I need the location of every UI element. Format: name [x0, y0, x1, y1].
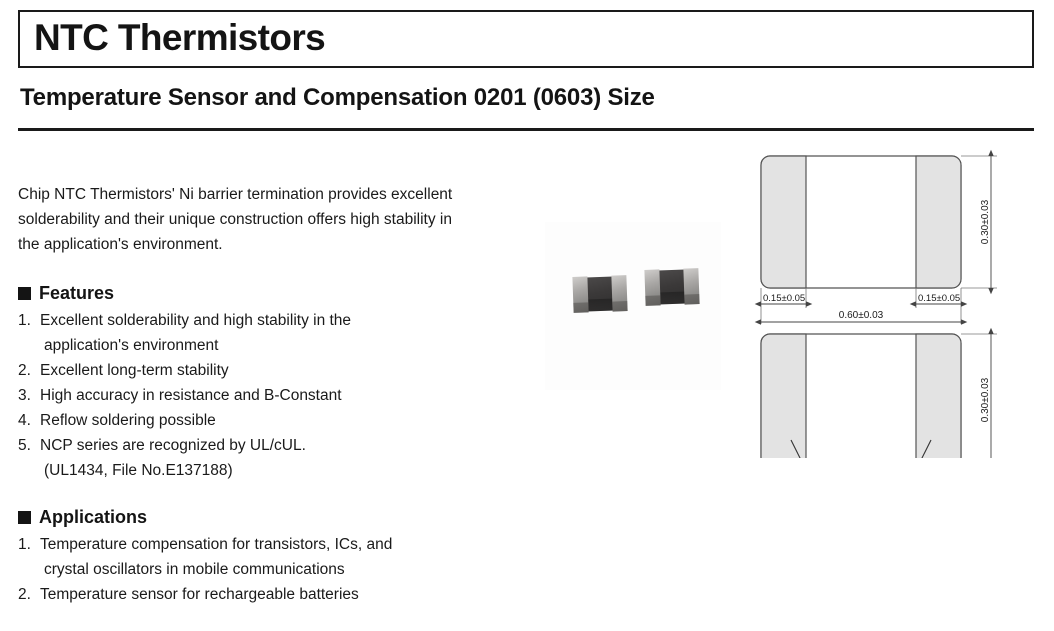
- features-section: Features 1. Excellent solderability and …: [18, 283, 468, 483]
- chip-termination-right: [683, 268, 699, 305]
- chip-termination-left: [572, 276, 588, 313]
- features-list: 1. Excellent solderability and high stab…: [18, 308, 468, 483]
- dim-length-label: 0.60±0.03: [839, 310, 884, 321]
- list-item-text: Temperature sensor for rechargeable batt…: [40, 582, 468, 607]
- list-item-text: Temperature compensation for transistors…: [40, 532, 468, 582]
- list-item-number: 2.: [18, 582, 40, 607]
- dim-width-top-label: 0.30±0.03: [980, 199, 991, 244]
- list-item-text: Reflow soldering possible: [40, 408, 468, 433]
- list-item-text: Excellent solderability and high stabili…: [40, 308, 468, 358]
- applications-heading-label: Applications: [39, 507, 147, 528]
- list-item-number: 5.: [18, 433, 40, 483]
- features-heading: Features: [18, 283, 468, 304]
- electrode-right-bottom: [916, 334, 961, 458]
- chip-component-image: [572, 276, 627, 312]
- dim-electrode-left-label: 0.15±0.05: [763, 293, 805, 304]
- square-bullet-icon: [18, 511, 31, 524]
- list-item: 2. Excellent long-term stability: [18, 358, 468, 383]
- list-item-continuation: crystal oscillators in mobile communicat…: [40, 557, 468, 582]
- list-item-number: 4.: [18, 408, 40, 433]
- page-subtitle: Temperature Sensor and Compensation 0201…: [20, 84, 655, 112]
- list-item-text: NCP series are recognized by UL/cUL.(UL1…: [40, 433, 468, 483]
- dimension-drawing: 0.15±0.05 0.15±0.05 0.60±0.03 0.30±0.03: [745, 148, 1045, 458]
- list-item-text: High accuracy in resistance and B-Consta…: [40, 383, 468, 408]
- list-item: 3. High accuracy in resistance and B-Con…: [18, 383, 468, 408]
- list-item-text: Excellent long-term stability: [40, 358, 468, 383]
- applications-section: Applications 1. Temperature compensation…: [18, 507, 468, 607]
- header-divider: [18, 128, 1034, 131]
- list-item-continuation: (UL1434, File No.E137188): [40, 458, 468, 483]
- chip-component-image: [644, 269, 699, 305]
- left-content-column: Chip NTC Thermistors' Ni barrier termina…: [18, 182, 468, 631]
- title-box: NTC Thermistors: [18, 10, 1034, 68]
- chip-termination-left: [644, 269, 660, 306]
- product-photo: [545, 222, 721, 390]
- list-item-continuation: application's environment: [40, 333, 468, 358]
- list-item: 4. Reflow soldering possible: [18, 408, 468, 433]
- bottom-view-drawing: 0.30±0.03: [761, 334, 997, 458]
- list-item: 5. NCP series are recognized by UL/cUL.(…: [18, 433, 468, 483]
- features-heading-label: Features: [39, 283, 114, 304]
- applications-heading: Applications: [18, 507, 468, 528]
- square-bullet-icon: [18, 287, 31, 300]
- top-view-drawing: 0.15±0.05 0.15±0.05 0.60±0.03 0.30±0.03: [761, 156, 997, 324]
- list-item-number: 1.: [18, 532, 40, 582]
- list-item: 1. Excellent solderability and high stab…: [18, 308, 468, 358]
- list-item-number: 2.: [18, 358, 40, 383]
- electrode-left-top: [761, 156, 806, 288]
- electrode-right-top: [916, 156, 961, 288]
- list-item: 2. Temperature sensor for rechargeable b…: [18, 582, 468, 607]
- dim-electrode-right-label: 0.15±0.05: [918, 293, 960, 304]
- list-item: 1. Temperature compensation for transist…: [18, 532, 468, 582]
- intro-paragraph: Chip NTC Thermistors' Ni barrier termina…: [18, 182, 468, 257]
- list-item-number: 3.: [18, 383, 40, 408]
- chip-termination-right: [611, 275, 627, 312]
- dim-width-bottom-label: 0.30±0.03: [980, 377, 991, 422]
- list-item-number: 1.: [18, 308, 40, 358]
- electrode-left-bottom: [761, 334, 806, 458]
- page-title: NTC Thermistors: [34, 17, 325, 59]
- applications-list: 1. Temperature compensation for transist…: [18, 532, 468, 607]
